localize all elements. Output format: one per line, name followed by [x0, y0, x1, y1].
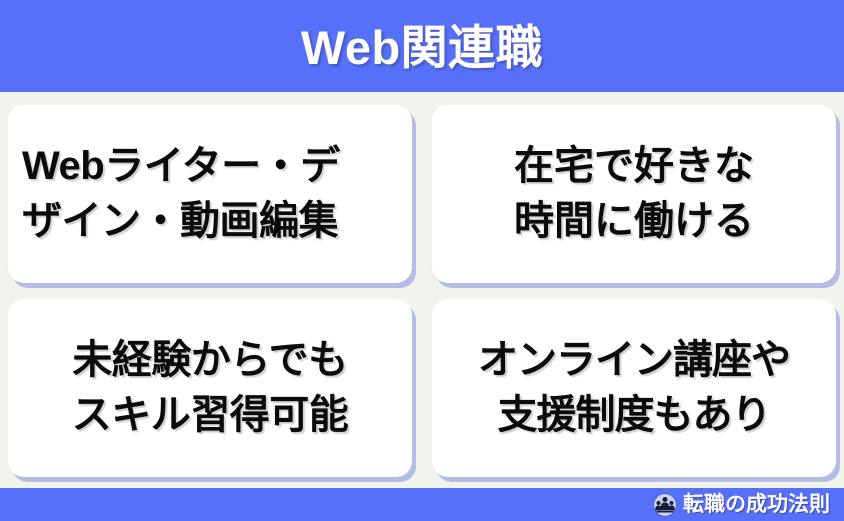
brand-lockup: 転職の成功法則 [653, 493, 830, 517]
card-text: 未経験からでも スキル習得可能 [8, 333, 412, 443]
page-title: Web関連職 [301, 24, 543, 71]
card-text: オンライン講座や 支援制度もあり [432, 333, 836, 443]
header-bar: Web関連職 [0, 0, 844, 92]
people-circle-logo-icon [653, 493, 677, 517]
brand-name: 転職の成功法則 [683, 494, 830, 515]
card-skills-without-experience: 未経験からでも スキル習得可能 [8, 299, 412, 477]
card-online-courses-and-support: オンライン講座や 支援制度もあり [432, 299, 836, 477]
card-work-from-home-flexible-hours: 在宅で好きな 時間に働ける [432, 105, 836, 283]
card-text: 在宅で好きな 時間に働ける [432, 139, 836, 249]
card-grid: Webライター・デ ザイン・動画編集 在宅で好きな 時間に働ける 未経験からでも… [8, 105, 836, 477]
card-web-writer-design-video: Webライター・デ ザイン・動画編集 [8, 105, 412, 283]
infographic-root: Web関連職 Webライター・デ ザイン・動画編集 在宅で好きな 時間に働ける … [0, 0, 844, 521]
footer-bar: 転職の成功法則 [0, 488, 844, 521]
card-text: Webライター・デ ザイン・動画編集 [8, 139, 412, 249]
